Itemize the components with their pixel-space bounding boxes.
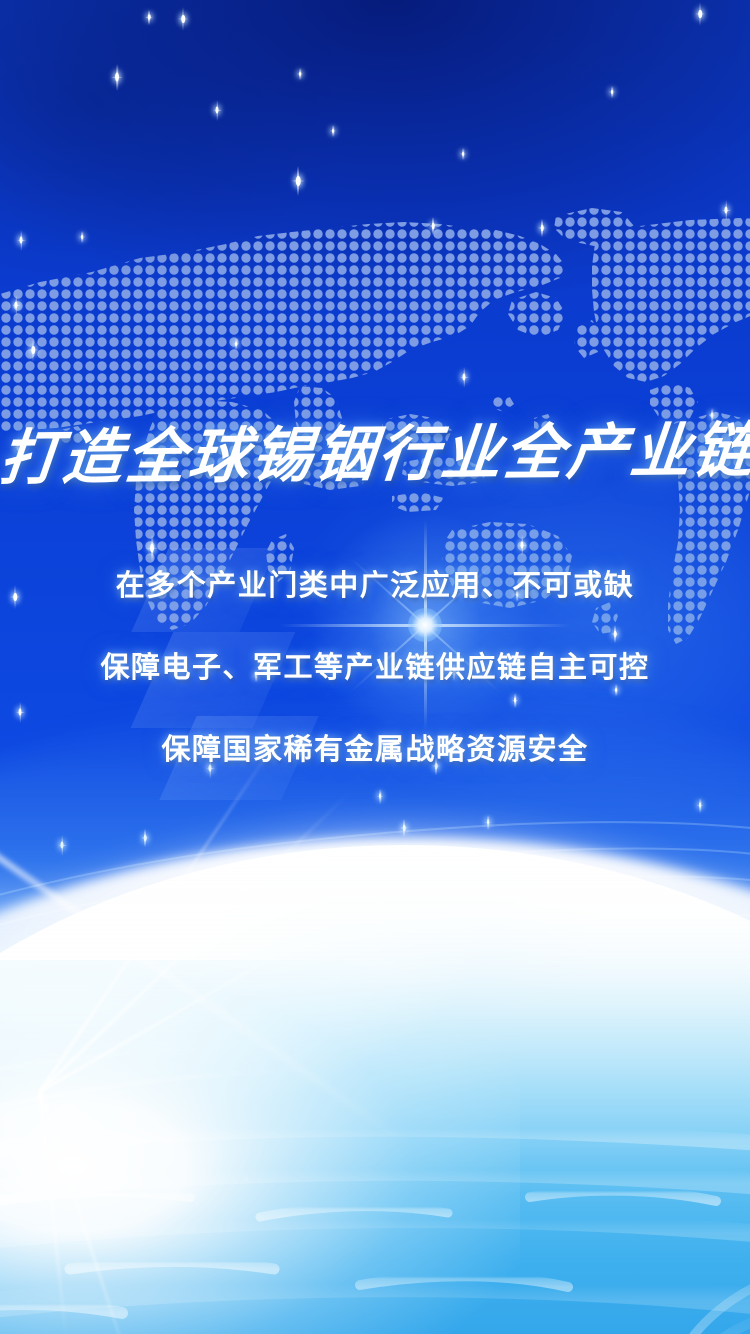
poster-canvas: 打造全球锡铟行业全产业链链主 在多个产业门类中广泛应用、不可或缺 保障电子、军工… bbox=[0, 0, 750, 1334]
sparkle-star bbox=[432, 223, 435, 229]
sparkle-star bbox=[541, 225, 544, 231]
lens-flare bbox=[424, 624, 426, 626]
sparkle-star bbox=[150, 544, 154, 553]
sparkle-star bbox=[487, 820, 489, 825]
sparkle-star bbox=[462, 152, 464, 156]
sparkle-star bbox=[614, 631, 617, 637]
sparkle-star bbox=[615, 688, 617, 692]
sparkle-star bbox=[299, 72, 301, 76]
subtitle-line-2: 保障电子、军工等产业链供应链自主可控 bbox=[0, 644, 750, 686]
sparkle-star bbox=[463, 374, 466, 381]
page-title: 打造全球锡铟行业全产业链链主 bbox=[0, 415, 750, 495]
subtitle-line-3: 保障国家稀有金属战略资源安全 bbox=[0, 726, 750, 768]
sparkle-star bbox=[15, 302, 18, 309]
sparkle-star bbox=[725, 207, 728, 214]
sparkle-star bbox=[81, 235, 83, 239]
sparkle-star bbox=[144, 835, 147, 841]
sparkle-star bbox=[216, 107, 219, 114]
sparkle-star bbox=[61, 842, 64, 849]
sparkle-star bbox=[514, 698, 516, 703]
flare-core bbox=[408, 608, 442, 642]
sparkle-star bbox=[379, 794, 381, 799]
sparkle-star bbox=[521, 542, 524, 549]
sparkle-star bbox=[19, 709, 22, 716]
sparkle-star bbox=[332, 129, 334, 133]
sparkle-star bbox=[698, 10, 702, 18]
sparkle-star bbox=[115, 73, 119, 82]
subtitle-line-1: 在多个产业门类中广泛应用、不可或缺 bbox=[0, 562, 750, 604]
sparkle-star bbox=[235, 342, 237, 346]
sparkle-star bbox=[403, 825, 406, 831]
earth-clouds bbox=[0, 845, 750, 1334]
sparkle-star bbox=[31, 346, 35, 354]
sparkle-star bbox=[148, 15, 151, 20]
sparkle-star bbox=[611, 90, 613, 94]
sparkle-star bbox=[296, 176, 301, 186]
sparkle-star bbox=[20, 237, 23, 244]
sparkle-star bbox=[699, 803, 701, 808]
sparkle-star bbox=[181, 15, 185, 23]
